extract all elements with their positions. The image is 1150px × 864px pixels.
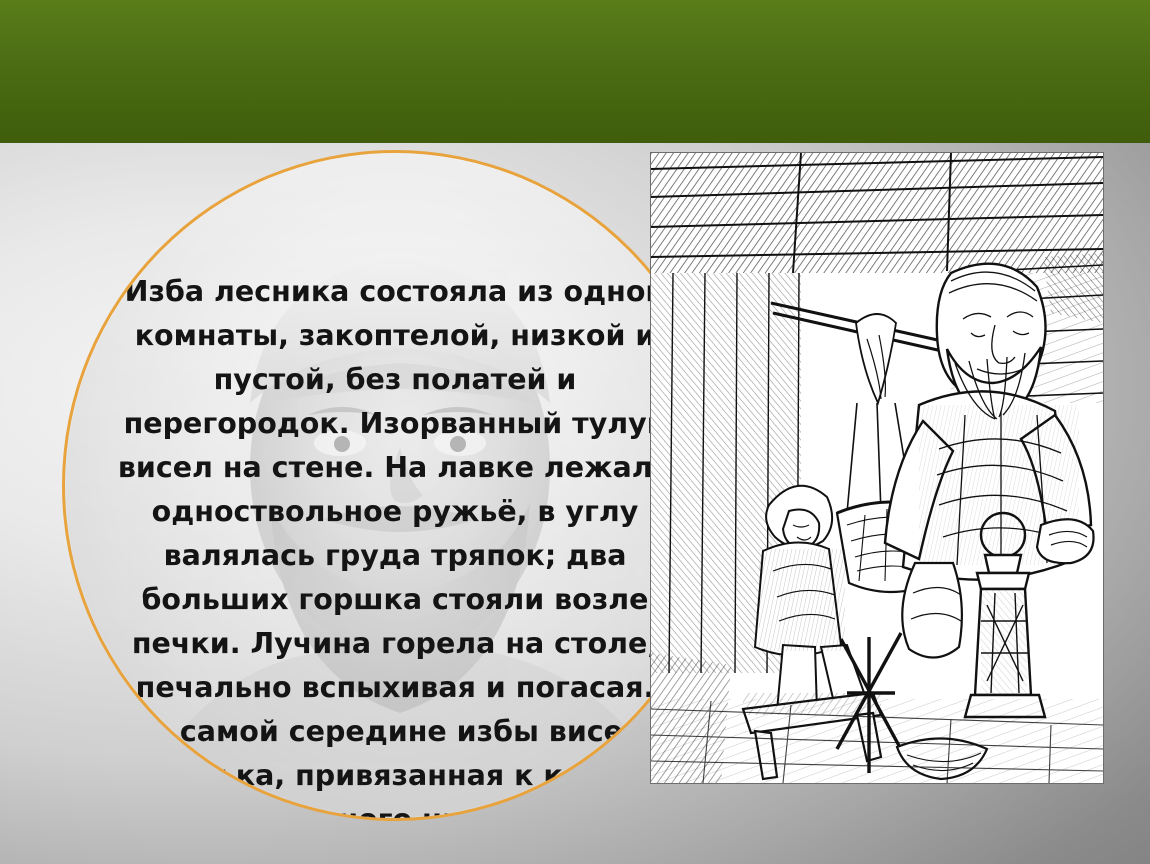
slide: Что такое ИНТЕРЬЕР? Какую роль он играет… [0, 0, 1150, 864]
body-paragraph: Изба лесника состояла из одной комнаты, … [115, 270, 675, 822]
title-band [0, 0, 1150, 143]
illustration-image [650, 152, 1104, 784]
oval-frame: Изба лесника состояла из одной комнаты, … [62, 150, 728, 821]
